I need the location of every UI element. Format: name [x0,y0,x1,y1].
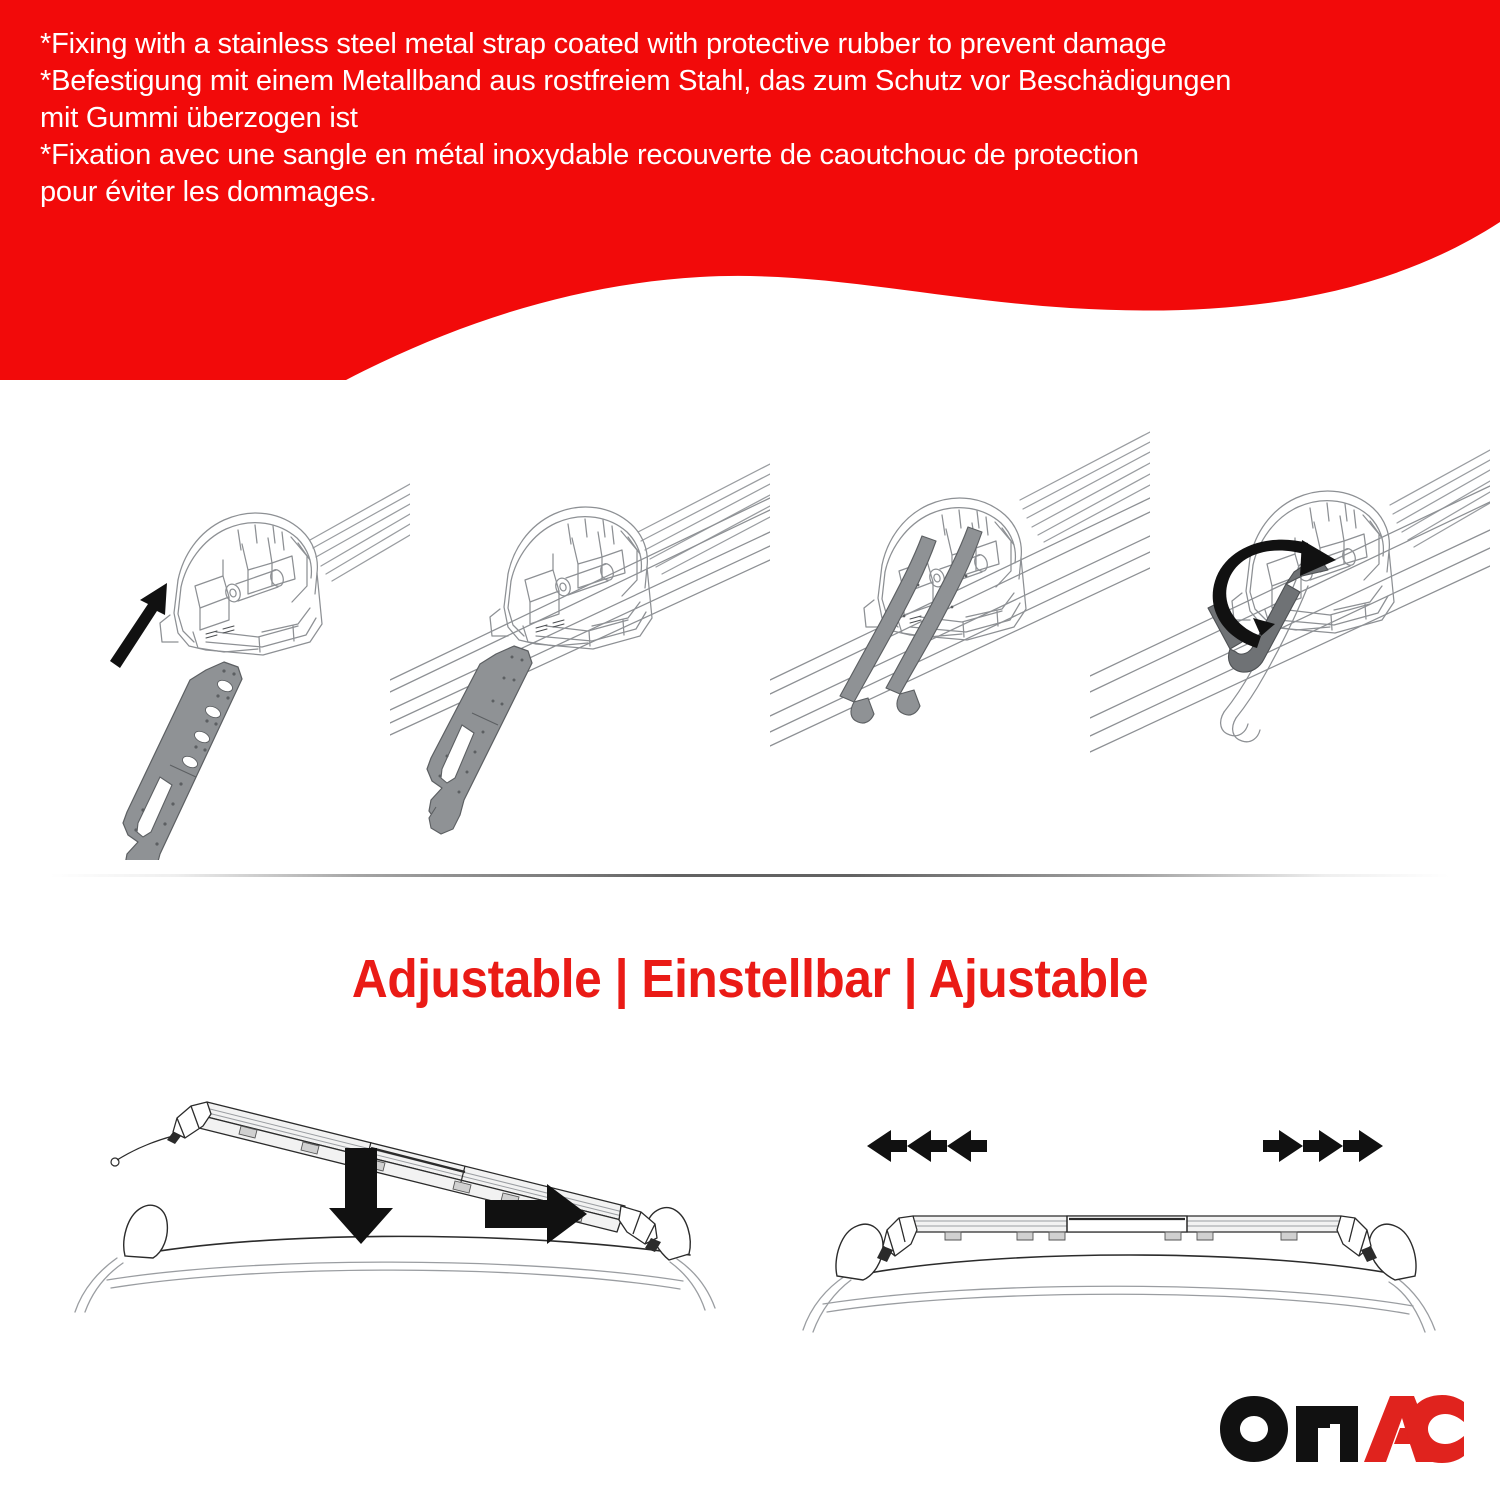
crossbar-width-adjustment-diagram [795,1080,1455,1410]
crossbar-placement-diagram [55,1080,755,1410]
step-4-tighten-bolt [1090,380,1490,860]
product-infographic-page: *Fixing with a stainless steel metal str… [0,0,1500,1500]
installation-steps-strip [0,380,1500,860]
rack-foot-body [160,513,322,655]
omac-logo-mark [1218,1392,1466,1466]
crossbar-placement-illustration [55,1080,755,1410]
step-1-insert-strap-into-foot [10,380,410,860]
triple-left-arrow-icon [867,1130,987,1162]
metal-strap [123,662,242,860]
step-1-illustration [10,380,410,860]
roof-rail [390,498,770,735]
omac-logo [1218,1392,1466,1466]
step-4-illustration [1090,380,1490,860]
adjustable-heading: Adjustable | Einstellbar | Ajustable [60,948,1440,1010]
adjustment-diagrams-row [0,1080,1500,1410]
step-2-illustration [390,380,770,860]
roof-rail [1090,486,1490,752]
triple-right-arrow-icon [1263,1130,1383,1162]
section-divider [50,874,1450,877]
crossbar-tilted [111,1102,661,1252]
up-arrow-icon [110,583,167,668]
logo-letter-o [1220,1396,1288,1462]
crossbar-width-illustration [795,1080,1455,1410]
header-banner: *Fixing with a stainless steel metal str… [0,0,1500,380]
roof-rail-left [124,1205,168,1258]
banner-description-text: *Fixing with a stainless steel metal str… [40,26,1460,211]
step-2-strap-under-rail [390,380,770,860]
logo-letter-m [1296,1406,1358,1462]
crossbar-profile [1390,450,1490,547]
metal-strap [427,646,532,834]
